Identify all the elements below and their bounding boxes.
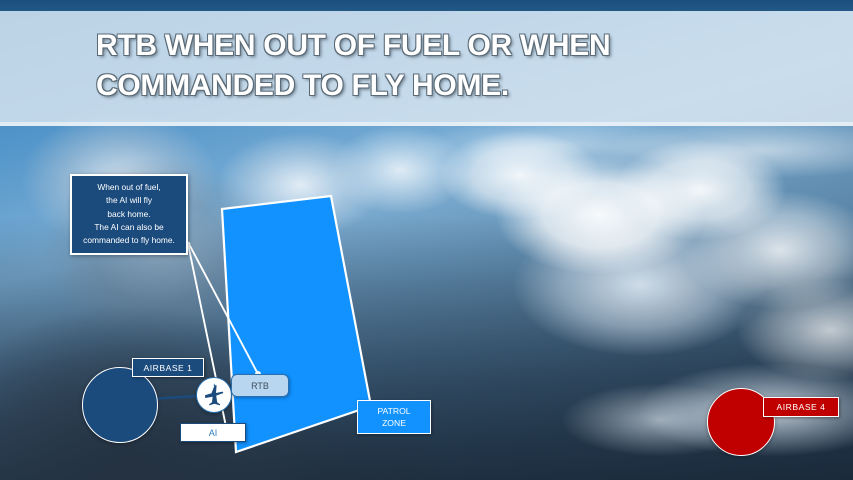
patrol-zone-line-1: PATROL [377,405,410,417]
callout-line-2: the AI will fly [77,194,181,207]
label-airbase-4[interactable]: AIRBASE 4 [763,397,839,417]
airbase-1-marker[interactable] [82,367,158,443]
label-rtb[interactable]: RTB [231,374,289,397]
callout-line-1: When out of fuel, [77,181,181,194]
rtb-explanation-callout: When out of fuel, the AI will fly back h… [70,174,188,255]
label-airbase-1[interactable]: AIRBASE 1 [132,358,204,377]
callout-line-5: commanded to fly home. [77,234,181,247]
callout-line-3: back home. [77,208,181,221]
callout-line-4: The AI can also be [77,221,181,234]
presentation-slide: RTB WHEN OUT OF FUEL OR WHEN COMMANDED T… [0,0,853,480]
label-ai[interactable]: AI [180,423,246,442]
fighter-jet-icon[interactable] [196,377,232,413]
label-patrol-zone[interactable]: PATROL ZONE [357,400,431,434]
patrol-zone-line-2: ZONE [382,417,406,429]
patrol-zone-polygon[interactable] [222,196,371,452]
